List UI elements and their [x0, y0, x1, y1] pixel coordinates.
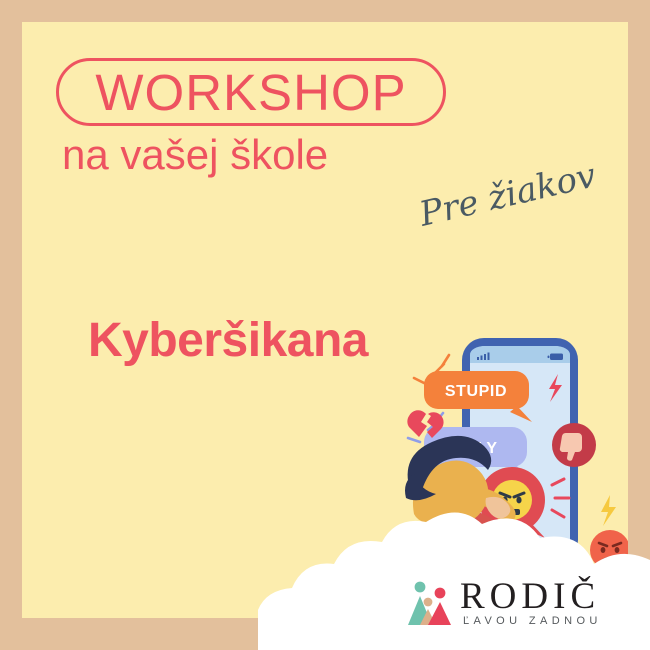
rodic-logo-word: RODIČ: [460, 579, 602, 614]
angry-face-icon-red: [590, 530, 628, 570]
page-title: Kyberšikana: [88, 317, 368, 365]
lightning-bolt-icon-yellow: [601, 495, 616, 526]
rodic-logo-mark: [404, 577, 456, 629]
workshop-subtitle: na vašej škole: [62, 134, 328, 176]
rodic-logo-text: RODIČ ĽAVOU ZADNOU: [460, 579, 602, 627]
workshop-badge-label: WORKSHOP: [59, 61, 443, 123]
thumbs-down-icon: [552, 423, 596, 467]
workshop-badge: WORKSHOP: [56, 58, 446, 126]
poster-inner-panel: WORKSHOP na vašej škole Pre žiakov Kyber…: [22, 22, 628, 618]
audience-script-tag: Pre žiakov: [416, 146, 628, 273]
bubble-stupid-label: STUPID: [445, 383, 507, 400]
poster-canvas: WORKSHOP na vašej škole Pre žiakov Kyber…: [0, 0, 650, 650]
rodic-logo-tagline: ĽAVOU ZADNOU: [463, 615, 602, 627]
cyberbullying-illustration: STUPID UGLY: [382, 322, 628, 602]
rodic-logo[interactable]: RODIČ ĽAVOU ZADNOU: [404, 572, 619, 634]
